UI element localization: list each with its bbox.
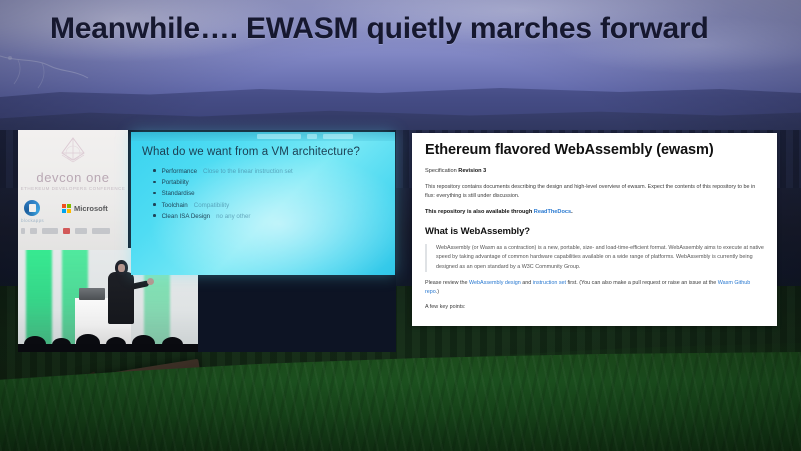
readthedocs-link[interactable]: ReadTheDocs: [534, 209, 571, 215]
bullet-dot-icon: [153, 169, 156, 172]
speaker-body: [108, 272, 134, 324]
sponsor-row-secondary: [21, 228, 125, 234]
browser-tab[interactable]: [323, 134, 353, 139]
devcon-banner: devcon one ETHEREUM DEVELOPERS CONFERENC…: [18, 130, 128, 250]
microsoft-logo-icon: [62, 204, 71, 213]
laptop-icon: [79, 288, 105, 300]
doc-spec-prefix: Specification: [425, 168, 458, 174]
doc-quote-block: WebAssembly (or Wasm as a contraction) i…: [425, 244, 764, 272]
slide-heading: What do we want from a VM architecture?: [142, 146, 360, 158]
sponsor-chip: [21, 228, 25, 234]
ethereum-diamond-icon: [56, 136, 90, 170]
bullet-detail: Close to the linear instruction set: [203, 168, 293, 175]
browser-tab[interactable]: [257, 134, 301, 139]
list-item: Performance Close to the linear instruct…: [153, 168, 293, 175]
doc-review-part1: Please review the: [425, 280, 469, 286]
doc-readthedocs-prefix: This repository is also available throug…: [425, 209, 534, 215]
doc-review-paragraph: Please review the WebAssembly design and…: [425, 279, 764, 297]
slide-bullet-list: Performance Close to the linear instruct…: [153, 168, 293, 224]
sponsor-label-blockapps: blockapps: [21, 218, 44, 223]
doc-readthedocs-suffix: .: [571, 209, 573, 215]
sponsor-chip: [63, 228, 70, 234]
ewasm-readme-panel: Ethereum flavored WebAssembly (ewasm) Sp…: [412, 133, 777, 326]
doc-spec-line: Specification Revision 3: [425, 167, 764, 176]
sponsor-chip: [75, 228, 87, 234]
bullet-detail: Compatibility: [194, 202, 229, 209]
bullet-dot-icon: [153, 214, 156, 217]
sponsor-row-primary: Microsoft: [24, 196, 122, 220]
bullet-label: Standardise: [162, 190, 195, 197]
page-title: Meanwhile…. EWASM quietly marches forwar…: [50, 12, 709, 46]
doc-review-part4: .): [436, 289, 439, 295]
doc-review-part3: first. (You can also make a pull request…: [566, 280, 718, 286]
bullet-detail: no any other: [216, 213, 250, 220]
bullet-dot-icon: [153, 203, 156, 206]
instruction-set-link[interactable]: instruction set: [533, 280, 566, 286]
banner-title: devcon one: [18, 170, 128, 185]
browser-tab[interactable]: [307, 134, 317, 139]
doc-intro-paragraph: This repository contains documents descr…: [425, 183, 764, 201]
sponsor-chip: [92, 228, 110, 234]
blockapps-logo-icon: [24, 200, 40, 216]
bullet-label: Clean ISA Design: [162, 213, 211, 220]
speaker-face: [118, 264, 125, 272]
banner-subtitle: ETHEREUM DEVELOPERS CONFERENCE: [18, 186, 128, 191]
bullet-label: Toolchain: [162, 202, 188, 209]
doc-review-part2: and: [521, 280, 533, 286]
doc-readthedocs-line: This repository is also available throug…: [425, 208, 764, 217]
projected-slide: What do we want from a VM architecture? …: [131, 132, 395, 275]
doc-key-points-label: A few key points:: [425, 303, 764, 312]
speaker-hand: [147, 278, 154, 285]
bullet-dot-icon: [153, 181, 156, 184]
doc-title: Ethereum flavored WebAssembly (ewasm): [425, 142, 764, 159]
webassembly-design-link[interactable]: WebAssembly design: [469, 280, 521, 286]
doc-spec-revision: Revision 3: [458, 168, 486, 174]
bullet-label: Performance: [162, 168, 197, 175]
presentation-slide-canvas: Meanwhile…. EWASM quietly marches forwar…: [0, 0, 801, 451]
list-item: Clean ISA Design no any other: [153, 213, 293, 220]
browser-chrome-strip: [131, 132, 395, 141]
bullet-dot-icon: [153, 192, 156, 195]
doc-section-heading: What is WebAssembly?: [425, 226, 764, 237]
sponsor-chip: [42, 228, 58, 234]
bullet-label: Portability: [162, 179, 189, 186]
list-item: Portability: [153, 179, 293, 186]
stage-floor: [18, 344, 198, 352]
sponsor-chip: [30, 228, 37, 234]
list-item: Standardise: [153, 190, 293, 197]
sponsor-name-microsoft: Microsoft: [74, 204, 108, 213]
list-item: Toolchain Compatibility: [153, 202, 293, 209]
